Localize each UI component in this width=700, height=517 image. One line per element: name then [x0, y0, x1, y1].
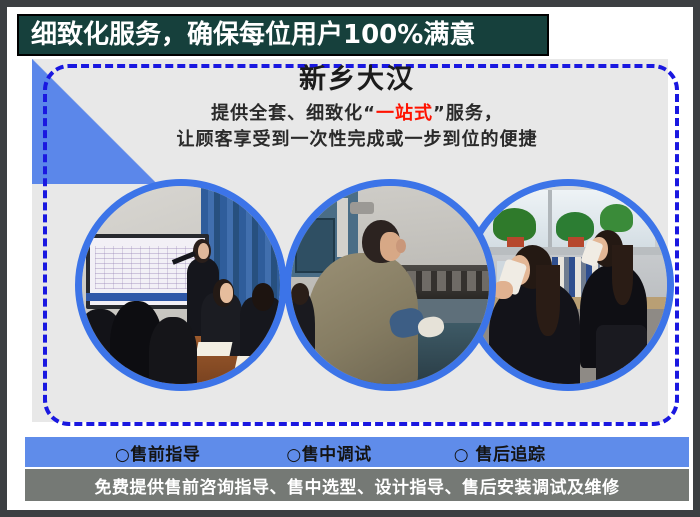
brand-title: 新乡大汉 — [32, 63, 682, 97]
subtitle-line-1-suffix: ”服务， — [433, 103, 503, 124]
header-banner-title: 细致化服务，确保每位用户100%满意 — [31, 22, 475, 48]
training-attendee-head-2 — [252, 283, 274, 311]
photo-illustration-training — [82, 186, 280, 384]
service-item-mid-sale[interactable]: ○售中调试 — [286, 440, 371, 465]
training-screen-taskbar — [86, 293, 201, 301]
subtitle-line-2: 让顾客享受到一次性完成或一步到位的便捷 — [32, 127, 682, 153]
support-agent-2-hair — [612, 245, 634, 304]
service-item-after-sale-label: 售后追踪 — [475, 445, 545, 465]
training-presenter-face — [198, 243, 209, 259]
training-paper-2 — [235, 356, 270, 370]
training-attendee-face-1 — [220, 283, 234, 303]
subtitle-line-1-prefix: 提供全套、细致化“ — [211, 103, 376, 124]
stage-bottom-gutter — [32, 422, 682, 431]
service-bullet-icon-3: ○ — [454, 445, 469, 465]
service-item-mid-sale-label: 售中调试 — [302, 445, 372, 465]
training-audience-3 — [149, 317, 197, 391]
workshop-lamp — [350, 202, 374, 214]
service-bullet-icon-1: ○ — [115, 445, 130, 465]
footer-bar: 免费提供售前咨询指导、售中选型、设计指导、售后安装调试及维修 — [25, 469, 689, 501]
subtitle-accent-one-stop: 一站式 — [376, 103, 433, 124]
service-item-after-sale[interactable]: ○ 售后追踪 — [454, 440, 546, 465]
subtitle-line-1: 提供全套、细致化“一站式”服务， — [32, 101, 682, 127]
photo-circle-mid-sale-machine — [284, 179, 496, 391]
service-bullet-icon-2: ○ — [286, 445, 301, 465]
headline-block: 新乡大汉 提供全套、细致化“一站式”服务， 让顾客享受到一次性完成或一步到位的便… — [32, 63, 682, 153]
photo-illustration-machine — [291, 186, 489, 384]
office-plant-3 — [600, 204, 634, 232]
photo-illustration-support — [469, 186, 667, 384]
service-stage-bar: ○售前指导 ○售中调试 ○ 售后追踪 — [25, 437, 689, 467]
training-paper-1 — [195, 342, 232, 356]
worker-ear — [396, 239, 406, 253]
header-banner: 细致化服务，确保每位用户100%满意 — [17, 14, 549, 56]
office-shelf — [469, 247, 667, 255]
workshop-pipe — [337, 198, 349, 257]
photo-circle-pre-sale-training — [75, 179, 287, 391]
service-item-pre-sale-label: 售前指导 — [130, 445, 200, 465]
office-plant-1 — [493, 208, 537, 242]
support-agent-1-hair — [536, 265, 560, 336]
workshop-background-person-head — [291, 283, 309, 305]
office-chair — [596, 325, 647, 384]
service-item-pre-sale[interactable]: ○售前指导 — [115, 440, 200, 465]
poster-root: 细致化服务，确保每位用户100%满意 新乡大汉 提供全套、细致化“一站式”服务，… — [0, 0, 700, 517]
footer-bar-text: 免费提供售前咨询指导、售中选型、设计指导、售后安装调试及维修 — [95, 473, 620, 498]
office-window-mullion — [548, 190, 552, 249]
